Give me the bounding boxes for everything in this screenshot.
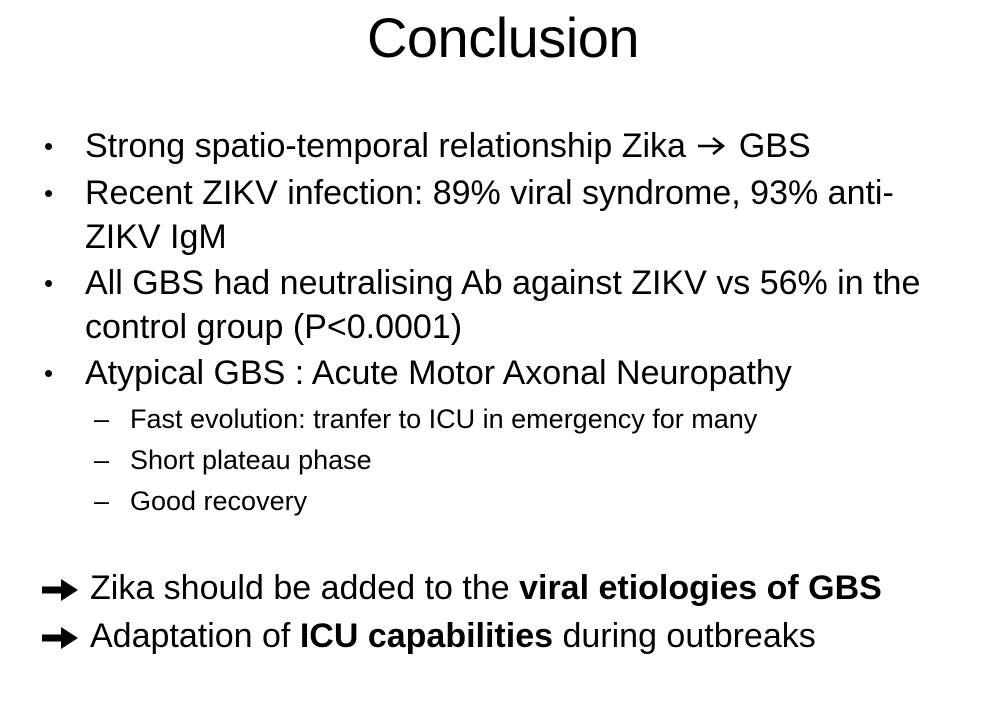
bullet-text-before-arrow: Strong spatio-temporal relationship Zika bbox=[85, 127, 695, 165]
list-item: • Recent ZIKV infection: 89% viral syndr… bbox=[0, 171, 1006, 259]
sub-list-item-label: Good recovery bbox=[130, 481, 958, 522]
sub-list-item-label: Fast evolution: tranfer to ICU in emerge… bbox=[130, 399, 958, 440]
conclusion-lead-text: Zika should be added to the bbox=[90, 569, 519, 607]
bullet-dot-icon: • bbox=[44, 261, 64, 305]
list-item-label: Atypical GBS : Acute Motor Axonal Neurop… bbox=[85, 351, 958, 395]
sub-list-item-label: Short plateau phase bbox=[130, 440, 958, 481]
conclusion-trail-text: during outbreaks bbox=[553, 617, 816, 655]
conclusion-emphasis-text: ICU capabilities bbox=[300, 617, 553, 655]
bold-right-arrow-icon bbox=[42, 612, 84, 651]
dash-marker-icon: – bbox=[94, 440, 120, 481]
page-title: Conclusion bbox=[0, 6, 1006, 70]
sub-list-item: – Good recovery bbox=[0, 481, 1006, 522]
dash-marker-icon: – bbox=[94, 481, 120, 522]
conclusion-line: Zika should be added to the viral etiolo… bbox=[0, 564, 1006, 612]
sub-list-item: – Fast evolution: tranfer to ICU in emer… bbox=[0, 399, 1006, 440]
bullet-dot-icon: • bbox=[44, 171, 64, 215]
list-item-label: All GBS had neutralising Ab against ZIKV… bbox=[85, 261, 958, 349]
conclusion-line-label: Zika should be added to the viral etiolo… bbox=[90, 564, 966, 612]
conclusion-emphasis-text: viral etiologies of GBS bbox=[519, 569, 882, 607]
bullet-dot-icon: • bbox=[44, 124, 64, 168]
list-item: • Strong spatio-temporal relationship Zi… bbox=[0, 124, 1006, 169]
sub-list-item: – Short plateau phase bbox=[0, 440, 1006, 481]
list-item-label: Recent ZIKV infection: 89% viral syndrom… bbox=[85, 171, 958, 259]
conclusion-line-label: Adaptation of ICU capabilities during ou… bbox=[90, 612, 966, 660]
conclusion-line: Adaptation of ICU capabilities during ou… bbox=[0, 612, 1006, 660]
bold-right-arrow-icon bbox=[42, 564, 84, 603]
thin-right-arrow-icon bbox=[697, 125, 727, 169]
list-item-label: Strong spatio-temporal relationship Zika… bbox=[85, 124, 958, 169]
bullet-text-after-arrow: GBS bbox=[729, 127, 810, 165]
slide-canvas: Conclusion • Strong spatio-temporal rela… bbox=[0, 0, 1006, 720]
bullet-dot-icon: • bbox=[44, 351, 64, 395]
sub-list: – Fast evolution: tranfer to ICU in emer… bbox=[0, 399, 1006, 522]
list-item: • Atypical GBS : Acute Motor Axonal Neur… bbox=[0, 351, 1006, 395]
conclusion-lead-text: Adaptation of bbox=[90, 617, 300, 655]
slide-body: • Strong spatio-temporal relationship Zi… bbox=[0, 124, 1006, 660]
blank-line-spacer bbox=[0, 522, 1006, 564]
list-item: • All GBS had neutralising Ab against ZI… bbox=[0, 261, 1006, 349]
dash-marker-icon: – bbox=[94, 399, 120, 440]
